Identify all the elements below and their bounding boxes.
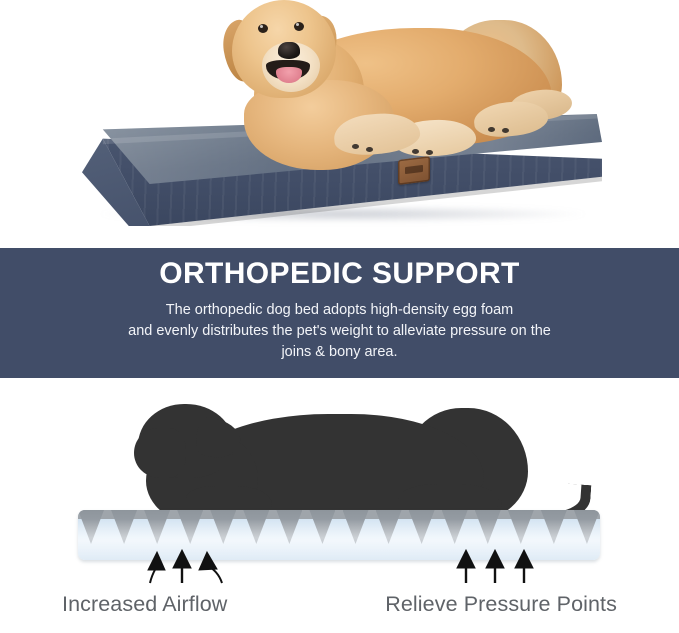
- foam-tooth: [442, 510, 468, 544]
- foam-tooth: [144, 510, 170, 544]
- foam-tooth: [475, 510, 501, 544]
- foam-tooth: [276, 510, 302, 544]
- product-photo-panel: [0, 0, 679, 248]
- foam-tooth: [210, 510, 236, 544]
- foam-tooth: [574, 510, 600, 544]
- dog-toenail: [488, 127, 495, 132]
- banner-subtitle: The orthopedic dog bed adopts high-densi…: [128, 300, 551, 364]
- foam-tooth: [409, 510, 435, 544]
- diagram-labels: Increased Airflow Relieve Pressure Point…: [0, 592, 679, 617]
- banner-subtitle-line-3: joins & bony area.: [128, 342, 551, 363]
- banner-subtitle-line-1: The orthopedic dog bed adopts high-densi…: [128, 300, 551, 321]
- foam-tooth: [376, 510, 402, 544]
- foam-tooth: [343, 510, 369, 544]
- dog-toenail: [426, 150, 433, 155]
- banner-subtitle-line-2: and evenly distributes the pet's weight …: [128, 321, 551, 342]
- foam-tooth: [541, 510, 567, 544]
- dog-nose: [278, 42, 300, 59]
- dog-eye-right: [294, 22, 304, 31]
- foam-tooth: [78, 510, 104, 544]
- silhouette-snout: [134, 428, 186, 478]
- dog-toenail: [366, 147, 373, 152]
- dog-toenail: [502, 128, 509, 133]
- foam-tooth: [243, 510, 269, 544]
- dog-toenail: [352, 144, 359, 149]
- foam-tooth: [111, 510, 137, 544]
- label-relieve-pressure-points: Relieve Pressure Points: [385, 592, 617, 617]
- photo-stage: [0, 0, 679, 248]
- banner-title: ORTHOPEDIC SUPPORT: [159, 258, 520, 290]
- foam-tooth: [309, 510, 335, 544]
- airflow-pressure-diagram: Increased Airflow Relieve Pressure Point…: [0, 378, 679, 633]
- dog-eye-left: [258, 24, 268, 33]
- dog-toenail: [412, 149, 419, 154]
- product-infographic: ORTHOPEDIC SUPPORT The orthopedic dog be…: [0, 0, 679, 633]
- orthopedic-support-banner: ORTHOPEDIC SUPPORT The orthopedic dog be…: [0, 248, 679, 378]
- foam-tooth: [508, 510, 534, 544]
- foam-tooth: [177, 510, 203, 544]
- label-increased-airflow: Increased Airflow: [62, 592, 227, 617]
- foam-egg-crate-teeth: [78, 510, 600, 544]
- golden-retriever-photo: [158, 0, 558, 169]
